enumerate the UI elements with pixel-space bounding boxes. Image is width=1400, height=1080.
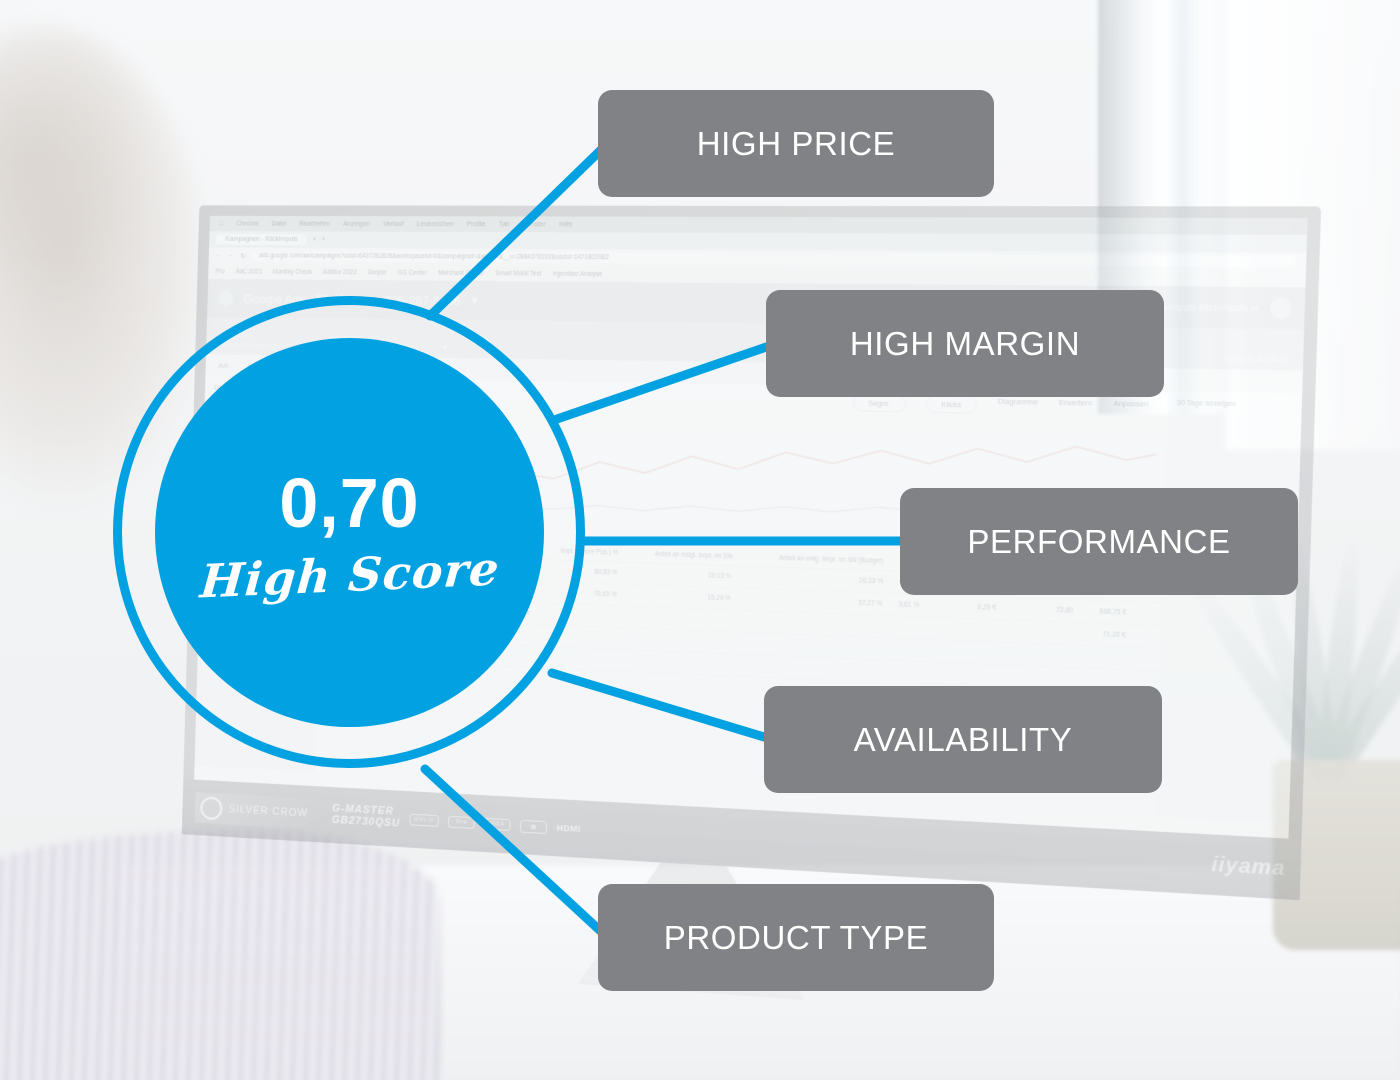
chip-label: PRODUCT TYPE (664, 919, 929, 957)
connector-high-margin (557, 343, 778, 419)
chip-label: HIGH MARGIN (850, 325, 1080, 363)
chip-product-type[interactable]: PRODUCT TYPE (598, 884, 994, 991)
chip-label: AVAILABILITY (854, 721, 1073, 759)
chip-high-price[interactable]: HIGH PRICE (598, 90, 994, 197)
infographic-canvas:  Chrome Datei Bearbeiten Anzeigen Verla… (0, 0, 1400, 1080)
connector-product-type (425, 769, 607, 937)
score-caption: High Score (198, 545, 501, 604)
chip-high-margin[interactable]: HIGH MARGIN (766, 290, 1164, 397)
chip-performance[interactable]: PERFORMANCE (900, 488, 1298, 595)
connector-availability (552, 673, 774, 740)
score-value: 0,70 (279, 468, 419, 538)
chip-availability[interactable]: AVAILABILITY (764, 686, 1162, 793)
connector-high-price (430, 145, 606, 316)
score-badge[interactable]: 0,70 High Score (155, 338, 544, 727)
chip-label: PERFORMANCE (967, 523, 1230, 561)
chip-label: HIGH PRICE (697, 125, 896, 163)
